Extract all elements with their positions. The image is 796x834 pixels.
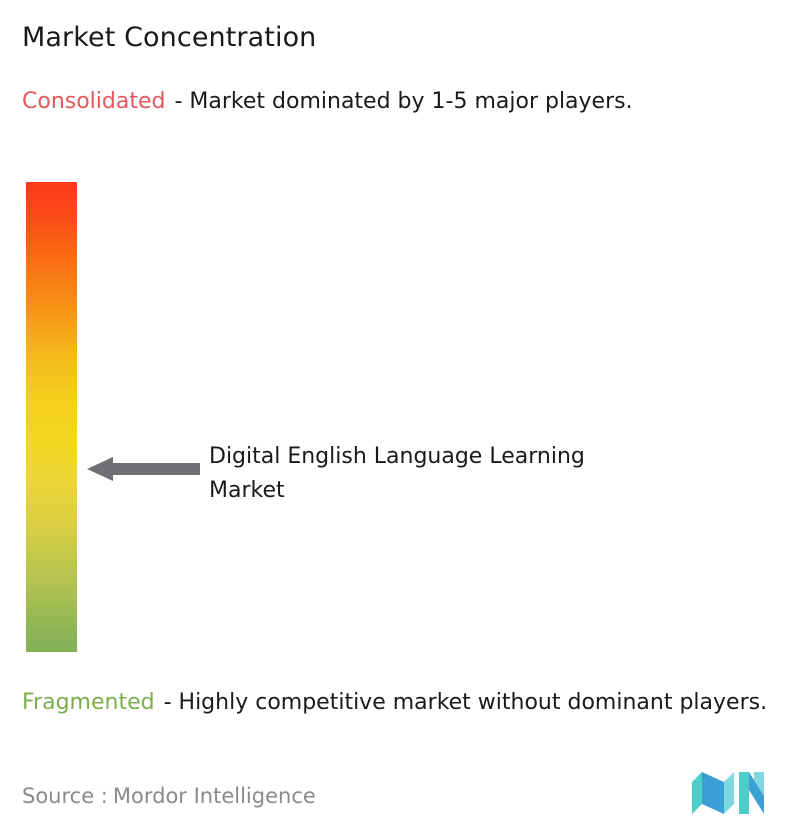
concentration-gradient-bar — [26, 182, 77, 652]
legend-fragmented-description: Highly competitive market without domina… — [179, 690, 768, 715]
legend-fragmented-keyword: Fragmented — [22, 690, 155, 715]
legend-consolidated-separator: - — [174, 89, 189, 114]
legend-fragmented-separator: - — [164, 690, 179, 715]
source-value: Mordor Intelligence — [113, 784, 316, 808]
callout-arrow-icon — [87, 455, 200, 483]
legend-fragmented: Fragmented- Highly competitive market wi… — [22, 687, 784, 718]
legend-consolidated: Consolidated- Market dominated by 1-5 ma… — [22, 86, 762, 117]
page-title: Market Concentration — [22, 20, 316, 56]
source-label: Source : — [22, 784, 108, 808]
legend-consolidated-description: Market dominated by 1-5 major players. — [189, 89, 632, 114]
source-attribution: Source :Mordor Intelligence — [22, 782, 316, 810]
callout-label: Digital English Language Learning Market — [209, 440, 629, 508]
mordor-intelligence-logo-icon — [692, 770, 770, 816]
market-concentration-infographic: Market Concentration Consolidated- Marke… — [0, 0, 796, 834]
legend-consolidated-keyword: Consolidated — [22, 89, 165, 114]
